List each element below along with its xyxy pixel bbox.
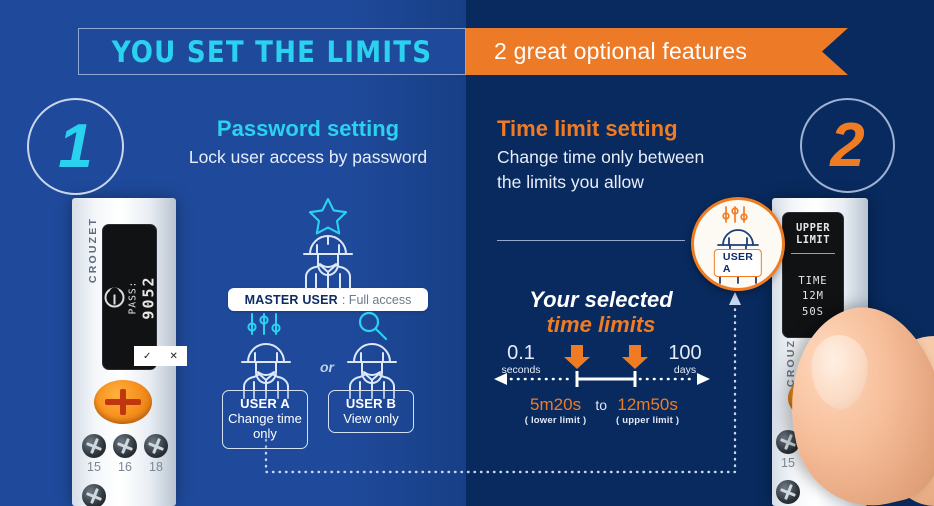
display-softkeys[interactable]: ✓ ✕ — [134, 346, 187, 366]
user-b-figure — [328, 312, 416, 398]
terminal-16: 16 — [113, 434, 137, 474]
screw-icon — [82, 434, 106, 458]
user-a-sub-1: Change time — [225, 411, 305, 426]
display-pass-value: 9052 — [140, 275, 158, 319]
left-heading-block: Password setting Lock user access by pas… — [158, 115, 458, 168]
lower-limit-value: 5m20s — [525, 396, 587, 415]
user-a-badge-label: USER A — [714, 249, 762, 277]
left-subtitle: Lock user access by password — [158, 146, 458, 168]
user-a-badge-circle: USER A — [691, 197, 785, 291]
master-user-access: : Full access — [342, 293, 411, 307]
display-pass-label: PASS: — [128, 281, 139, 315]
banner-right-text: 2 great optional features — [494, 38, 747, 65]
user-b-title: USER B — [331, 396, 411, 411]
step-number-2: 2 — [800, 98, 895, 193]
limit-values-row: 5m20s ( lower limit ) to 12m50s ( upper … — [490, 396, 714, 426]
step-number-1: 1 — [27, 98, 124, 195]
master-user-group: MASTER USER: Full access — [228, 196, 428, 311]
scale-axis — [490, 342, 714, 392]
right-divider — [497, 240, 685, 241]
timer-device-left: CROUZET PASS: 9052 ✓ ✕ 15 16 — [72, 198, 176, 506]
limits-to-word: to — [595, 397, 607, 413]
step-2-label: 2 — [830, 115, 864, 177]
banner-optional-features: 2 great optional features — [466, 28, 848, 75]
terminal-label: 18 — [144, 460, 168, 474]
lower-limit: 5m20s ( lower limit ) — [525, 396, 587, 426]
right-heading-block: Time limit setting Change time only betw… — [497, 115, 797, 193]
user-a-box: USER A Change time only — [222, 390, 308, 449]
user-b-box: USER B View only — [328, 390, 414, 433]
upper-limit-note: ( upper limit ) — [616, 415, 679, 426]
user-a-title: USER A — [225, 396, 305, 411]
device-brand-crouzet: CROUZET — [87, 213, 99, 287]
upper-limit-marker-icon — [622, 345, 648, 369]
magnifier-icon — [360, 313, 386, 339]
lower-limit-marker-icon — [564, 345, 590, 369]
infographic-canvas: YOU SET THE LIMITS 2 great optional feat… — [0, 0, 934, 506]
right-title: Time limit setting — [497, 115, 797, 143]
terminal-row-left: 15 16 18 — [82, 434, 168, 474]
selected-limits-title: Your selected time limits — [490, 288, 712, 337]
terminal-label: 16 — [113, 460, 137, 474]
screw-icon — [113, 434, 137, 458]
or-separator: or — [312, 359, 342, 375]
sliders-icon — [248, 314, 279, 334]
device-display-left: PASS: 9052 ✓ ✕ — [102, 224, 157, 370]
master-user-badge: MASTER USER: Full access — [228, 288, 428, 311]
crouzet-logo-icon — [105, 288, 125, 308]
terminal-label: 15 — [82, 460, 106, 474]
user-a-figure — [222, 312, 310, 398]
rotary-knob-left[interactable] — [94, 380, 152, 424]
right-subtitle-line-2: the limits you allow — [497, 171, 797, 193]
step-1-label: 1 — [58, 116, 92, 178]
screw-icon — [144, 434, 168, 458]
screw-icon — [82, 484, 106, 506]
banner-left-text: YOU SET THE LIMITS — [112, 35, 433, 69]
upper-limit-value: 12m50s — [616, 396, 679, 415]
terminal-row-right-bottom — [776, 480, 800, 504]
terminal-15: 15 — [82, 434, 106, 474]
selected-title-line-1: Your selected — [490, 288, 712, 313]
user-a-sub-2: only — [225, 426, 305, 441]
display-upper-line-2: LIMIT — [796, 234, 830, 246]
user-roles-group: or USER A Change time only USER B View o… — [222, 312, 430, 440]
upper-limit: 12m50s ( upper limit ) — [616, 396, 679, 426]
screw-icon — [776, 480, 800, 504]
display-rule — [791, 253, 835, 254]
terminal-18: 18 — [144, 434, 168, 474]
display-upper-line-1: UPPER — [796, 222, 830, 234]
sliders-icon — [723, 207, 747, 222]
left-title: Password setting — [158, 115, 458, 143]
right-subtitle-line-1: Change time only between — [497, 146, 797, 168]
terminal-label: 15 — [776, 456, 800, 470]
display-time-minutes: 12M — [802, 289, 824, 304]
left-arrow-icon — [494, 373, 507, 385]
display-time-seconds: 50S — [802, 305, 824, 320]
selected-title-line-2: time limits — [490, 313, 712, 338]
master-user-figure — [270, 196, 386, 288]
right-arrow-icon — [697, 373, 710, 385]
lower-limit-note: ( lower limit ) — [525, 415, 587, 426]
time-range-scale: 0.1 seconds 100 days — [490, 342, 714, 392]
user-b-sub-1: View only — [331, 411, 411, 426]
display-time-label: TIME — [798, 274, 827, 289]
close-icon[interactable]: ✕ — [170, 351, 178, 362]
check-icon[interactable]: ✓ — [143, 351, 151, 362]
master-user-label: MASTER USER — [245, 293, 338, 307]
banner-you-set-the-limits: YOU SET THE LIMITS — [78, 28, 466, 75]
terminal-row-left-bottom — [82, 484, 106, 506]
